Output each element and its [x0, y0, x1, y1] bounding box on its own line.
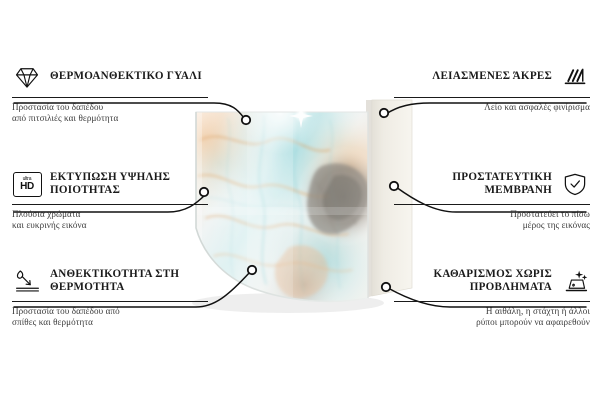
diamond-icon [12, 63, 42, 91]
feature-title: ΘΕΡΜΟΑΝΘΕΚΤΙΚΟ ΓΥΑΛΙ [50, 70, 208, 83]
anchor-dot-left-1 [242, 116, 250, 124]
feature-rule [12, 97, 208, 98]
ultra-hd-badge: ultra HD [13, 172, 42, 197]
feature-title: ΕΚΤΥΠΩΣΗ ΥΨΗΛΗΣ ΠΟΙΟΤΗΤΑΣ [50, 171, 208, 198]
feature-rule [394, 301, 590, 302]
feature-header: ΛΕΙΑΣΜΕΝΕΣ ΆΚΡΕΣ [394, 60, 590, 94]
flame-surface-icon [12, 267, 42, 295]
feature-header: ΠΡΟΣΤΑΤΕΥΤΙΚΗ ΜΕΜΒΡΑΝΗ [394, 167, 590, 201]
anchor-dot-left-3 [248, 266, 256, 274]
feature-header: ultra HD ΕΚΤΥΠΩΣΗ ΥΨΗΛΗΣ ΠΟΙΟΤΗΤΑΣ [12, 167, 208, 201]
feature-subtitle: Προστασία του δαπέδουαπό πιτσιλιές και θ… [12, 102, 208, 125]
feature-subtitle: Προστατεύει το πίσωμέρος της εικόνας [394, 209, 590, 232]
feature-header: ΚΑΘΑΡΙΣΜΟΣ ΧΩΡΙΣ ΠΡΟΒΛΗΜΑΤΑ [394, 264, 590, 298]
feature-title: ΑΝΘΕΚΤΙΚΟΤΗΤΑ ΣΤΗ ΘΕΡΜΟΤΗΤΑ [50, 268, 208, 295]
shield-check-icon [560, 170, 590, 198]
feature-heat-durability: ΑΝΘΕΚΤΙΚΟΤΗΤΑ ΣΤΗ ΘΕΡΜΟΤΗΤΑ Προστασία το… [12, 264, 208, 329]
feature-subtitle: Λείο και ασφαλές φινίρισμα [394, 102, 590, 113]
feature-rule [12, 301, 208, 302]
feature-rule [12, 204, 208, 205]
feature-subtitle: Προστασία του δαπέδου απόσπίθες και θερμ… [12, 306, 208, 329]
feature-header: ΘΕΡΜΟΑΝΘΕΚΤΙΚΟ ΓΥΑΛΙ [12, 60, 208, 94]
feature-subtitle: Η αιθάλη, η στάχτη ή άλλοιρύποι μπορούν … [394, 306, 590, 329]
sponge-sparkle-icon [560, 267, 590, 295]
feature-header: ΑΝΘΕΚΤΙΚΟΤΗΤΑ ΣΤΗ ΘΕΡΜΟΤΗΤΑ [12, 264, 208, 298]
feature-title: ΚΑΘΑΡΙΣΜΟΣ ΧΩΡΙΣ ΠΡΟΒΛΗΜΑΤΑ [394, 268, 552, 295]
feature-high-quality-print: ultra HD ΕΚΤΥΠΩΣΗ ΥΨΗΛΗΣ ΠΟΙΟΤΗΤΑΣ Πλούσ… [12, 167, 208, 232]
anchor-dot-right-1 [380, 109, 388, 117]
feature-protective-membrane: ΠΡΟΣΤΑΤΕΥΤΙΚΗ ΜΕΜΒΡΑΝΗ Προστατεύει το πί… [394, 167, 590, 232]
feature-polished-edges: ΛΕΙΑΣΜΕΝΕΣ ΆΚΡΕΣ Λείο και ασφαλές φινίρι… [394, 60, 590, 113]
anchor-dot-right-3 [382, 283, 390, 291]
feature-rule [394, 204, 590, 205]
product-feature-infographic: ΘΕΡΜΟΑΝΘΕΚΤΙΚΟ ΓΥΑΛΙ Προστασία του δαπέδ… [0, 0, 600, 400]
feature-heat-resistant-glass: ΘΕΡΜΟΑΝΘΕΚΤΙΚΟ ΓΥΑΛΙ Προστασία του δαπέδ… [12, 60, 208, 125]
ultra-hd-large-label: HD [20, 182, 34, 192]
feature-title: ΠΡΟΣΤΑΤΕΥΤΙΚΗ ΜΕΜΒΡΑΝΗ [394, 171, 552, 198]
ultra-hd-icon: ultra HD [12, 170, 42, 198]
feature-subtitle: Πλούσια χρώματακαι ευκρινής εικόνα [12, 209, 208, 232]
feature-easy-cleaning: ΚΑΘΑΡΙΣΜΟΣ ΧΩΡΙΣ ΠΡΟΒΛΗΜΑΤΑ Η αιθάλη, η … [394, 264, 590, 329]
feature-rule [394, 97, 590, 98]
feature-title: ΛΕΙΑΣΜΕΝΕΣ ΆΚΡΕΣ [394, 70, 552, 83]
beveled-edge-icon [560, 63, 590, 91]
